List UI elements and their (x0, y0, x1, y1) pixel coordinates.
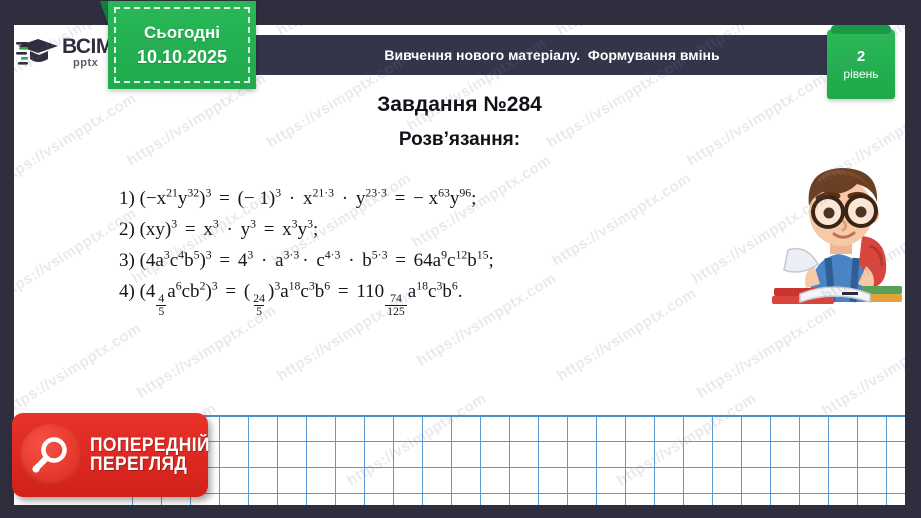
line4-exp-18b: 18 (416, 280, 428, 293)
line4-equals-2: = (335, 281, 352, 302)
line4-result-110: 110 (356, 281, 384, 302)
line1-exp-63: 63 (438, 187, 450, 200)
watermark-text: https://vsimpptx.com (14, 320, 144, 420)
line1-dot-1: · (286, 188, 298, 209)
line1-open: (−x (140, 188, 167, 209)
line1-exp-3b: 3 (275, 187, 281, 200)
line3-b2: b (362, 250, 372, 271)
line1-y: y (178, 188, 188, 209)
line3-c: c (170, 250, 178, 271)
line2-y1: y (241, 219, 251, 240)
line1-exp-21x3: 21·3 (312, 187, 334, 200)
solution-title: Розв’язання: (14, 129, 905, 151)
line2-equals-1: = (182, 219, 199, 240)
line1-exp-23x3: 23·3 (365, 187, 387, 200)
math-line-1: 1) (−x21y32)3 = (− 1)3 · x21·3 · y23·3 =… (119, 183, 719, 214)
line4-frac3-numerator: 74 (388, 293, 404, 305)
line3-equals-2: = (392, 250, 409, 271)
line4-c2: c (300, 281, 308, 302)
solution-math-block: 1) (−x21y32)3 = (− 1)3 · x21·3 · y23·3 =… (119, 183, 719, 318)
line1-exp-32: 32 (187, 187, 199, 200)
line3-open: (4a (140, 250, 164, 271)
line1-result: − x (413, 188, 438, 209)
today-date-badge: Сьогодні 10.10.2025 (108, 1, 256, 89)
logo-title: ВСІМ (62, 36, 113, 57)
line1-paren-minus-one: (− 1) (238, 188, 276, 209)
line1-exp-96: 96 (459, 187, 471, 200)
preview-line-1: ПОПЕРЕДНІЙ (90, 436, 210, 455)
line3-result-b: b (467, 250, 477, 271)
line4-frac3-denominator: 125 (385, 305, 407, 318)
line3-equals-1: = (216, 250, 233, 271)
line4-fraction-24-5: 245 (251, 293, 267, 318)
preview-button[interactable]: ПОПЕРЕДНІЙ ПЕРЕГЛЯД (12, 413, 208, 497)
line2-exp-3: 3 (171, 218, 177, 231)
line4-frac2-denominator: 5 (254, 305, 264, 318)
line1-result-y: y (450, 188, 460, 209)
grid-top-border (132, 415, 905, 417)
notebook-grid (132, 415, 905, 505)
line4-exp-6b: 6 (324, 280, 330, 293)
math-line-2: 2) (xy)3 = x3 · y3 = x3y3; (119, 214, 719, 245)
date-box: Сьогодні 10.10.2025 (108, 1, 256, 89)
line4-exp-3: 3 (212, 280, 218, 293)
line4-a2: a (280, 281, 288, 302)
line3-exp-4x3: 4·3 (325, 249, 341, 262)
watermark-text: https://vsimpptx.com (819, 320, 905, 420)
line3-semicolon: ; (488, 250, 493, 271)
level-badge: 2 рівень (827, 29, 895, 99)
line4-frac1-denominator: 5 (156, 305, 166, 318)
line3-dot-3: · (345, 250, 357, 271)
line4-paren-open-2: ( (244, 281, 250, 302)
boy-reading-book-illustration (766, 150, 904, 310)
line2-open: (xy) (140, 219, 172, 240)
line2-y2: y (298, 219, 308, 240)
line4-exp-18: 18 (289, 280, 301, 293)
date-label: Сьогодні (144, 23, 220, 43)
line1-exp-21: 21 (166, 187, 178, 200)
line2-x2: x (282, 219, 292, 240)
level-word: рівень (843, 67, 878, 81)
section-banner: Вивчення нового матеріалу. Формування вм… (250, 35, 854, 75)
line3-result: 64a (414, 250, 441, 271)
line2-index: 2) (119, 219, 135, 240)
line1-equals-1: = (216, 188, 233, 209)
line4-open: (4 (140, 281, 156, 302)
preview-button-labels: ПОПЕРЕДНІЙ ПЕРЕГЛЯД (90, 436, 220, 475)
line3-dot-1: · (258, 250, 270, 271)
line2-x1: x (203, 219, 213, 240)
line3-b: b (184, 250, 194, 271)
line2-semicolon: ; (313, 219, 318, 240)
line4-fraction-74-125: 74125 (385, 293, 407, 318)
line3-exp-3x3: 3·3 (284, 249, 300, 262)
date-value: 10.10.2025 (137, 47, 227, 68)
line4-cb: cb (182, 281, 200, 302)
line1-y2: y (356, 188, 366, 209)
line4-b2: b (315, 281, 325, 302)
magnifier-icon (20, 424, 82, 486)
line3-dot-2: · (299, 250, 311, 271)
line2-exp-3b: 3 (213, 218, 219, 231)
line3-c2: c (316, 250, 324, 271)
line4-equals-1: = (222, 281, 239, 302)
line4-period: . (458, 281, 463, 302)
line4-a: a (167, 281, 175, 302)
line4-b3: b (442, 281, 452, 302)
line3-exp-5x3: 5·3 (372, 249, 388, 262)
level-number: 2 (857, 48, 865, 65)
preview-line-2: ПЕРЕГЛЯД (90, 455, 210, 474)
graduation-cap-icon (16, 35, 60, 69)
level-scroll-shape: 2 рівень (827, 29, 895, 99)
line2-dot-1: · (223, 219, 235, 240)
math-line-3: 3) (4a3c4b5)3 = 43 · a3·3· c4·3 · b5·3 =… (119, 245, 719, 276)
line4-index: 4) (119, 281, 135, 302)
grid-lines (132, 415, 905, 505)
line4-fraction-4-5: 45 (156, 293, 166, 318)
line4-frac2-numerator: 24 (251, 293, 267, 305)
line4-frac1-numerator: 4 (156, 293, 166, 305)
line1-x2: x (303, 188, 313, 209)
line1-exp-3: 3 (205, 187, 211, 200)
line3-index: 3) (119, 250, 135, 271)
logo-subtitle: pptx (73, 58, 113, 69)
logo-wordmark: ВСІМ pptx (62, 36, 113, 69)
line3-a2: a (275, 250, 283, 271)
line1-equals-2: = (392, 188, 409, 209)
line1-semicolon: ; (471, 188, 476, 209)
line2-equals-2: = (261, 219, 278, 240)
line1-index: 1) (119, 188, 135, 209)
line3-exp-3c: 3 (247, 249, 253, 262)
line3-exp-12: 12 (455, 249, 467, 262)
line3-exp-3b: 3 (206, 249, 212, 262)
line4-a3: a (408, 281, 416, 302)
banner-title: Вивчення нового матеріалу. Формування вм… (384, 47, 719, 63)
line3-four: 4 (238, 250, 248, 271)
task-title: Завдання №284 (14, 93, 905, 117)
line3-exp-15: 15 (477, 249, 489, 262)
line1-dot-2: · (339, 188, 351, 209)
math-line-4: 4) (445a6cb2)3 = (245)3a18c3b6 = 1107412… (119, 276, 719, 318)
line2-exp-3c: 3 (250, 218, 256, 231)
